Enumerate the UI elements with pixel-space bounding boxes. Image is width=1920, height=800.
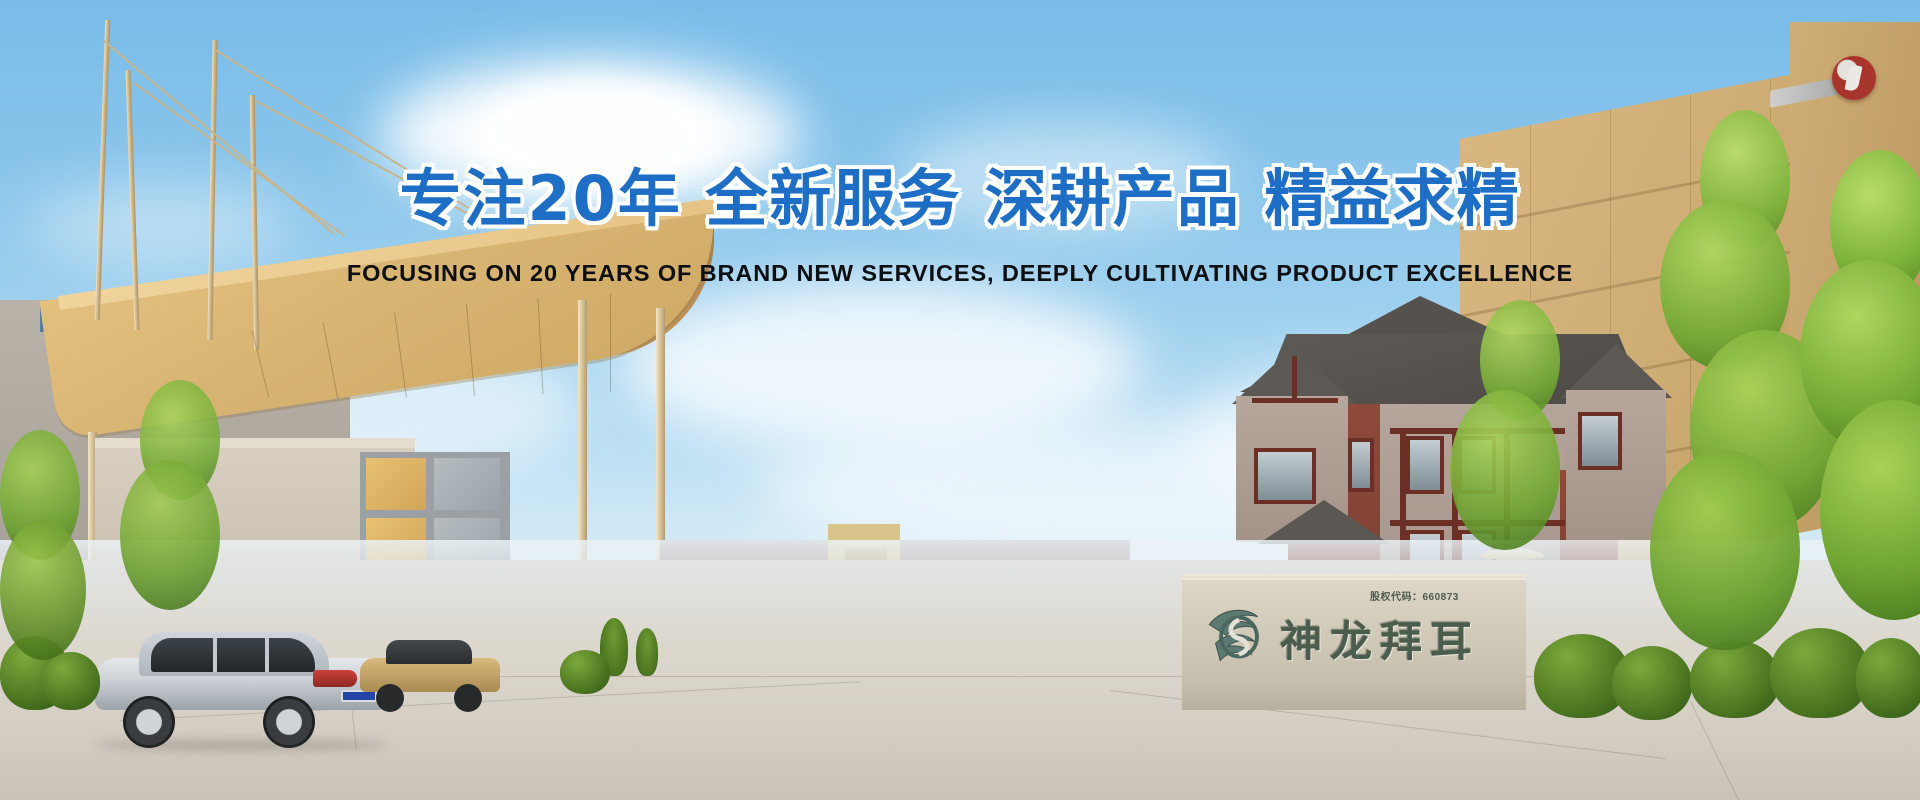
gold-car: [360, 636, 500, 706]
conifer-tree: [636, 628, 658, 676]
company-roundel-icon: [1832, 56, 1876, 100]
house-window: [1348, 438, 1374, 492]
tree: [120, 380, 240, 640]
banner-image: 股权代码：660873 神龙拜耳: [0, 0, 1920, 800]
banner-headline: 专注20年 全新服务 深耕产品 精益求精: [0, 148, 1920, 238]
shrub: [42, 652, 100, 710]
house-window: [1254, 448, 1316, 504]
house-window: [1406, 436, 1444, 494]
tree: [1450, 300, 1570, 660]
house-window: [1578, 412, 1622, 470]
dragon-logo-icon: [1200, 598, 1278, 676]
shrub: [560, 650, 610, 694]
tree: [0, 430, 90, 660]
stock-code-label: 股权代码：660873: [1370, 588, 1459, 603]
house-porch-roof: [1258, 500, 1390, 544]
shrub: [1612, 646, 1692, 720]
shrub: [1690, 640, 1780, 718]
banner-subheadline: FOCUSING ON 20 YEARS OF BRAND NEW SERVIC…: [0, 260, 1920, 287]
house-trim: [1292, 356, 1297, 402]
shrub: [1856, 638, 1920, 718]
canopy-rib: [610, 294, 611, 392]
